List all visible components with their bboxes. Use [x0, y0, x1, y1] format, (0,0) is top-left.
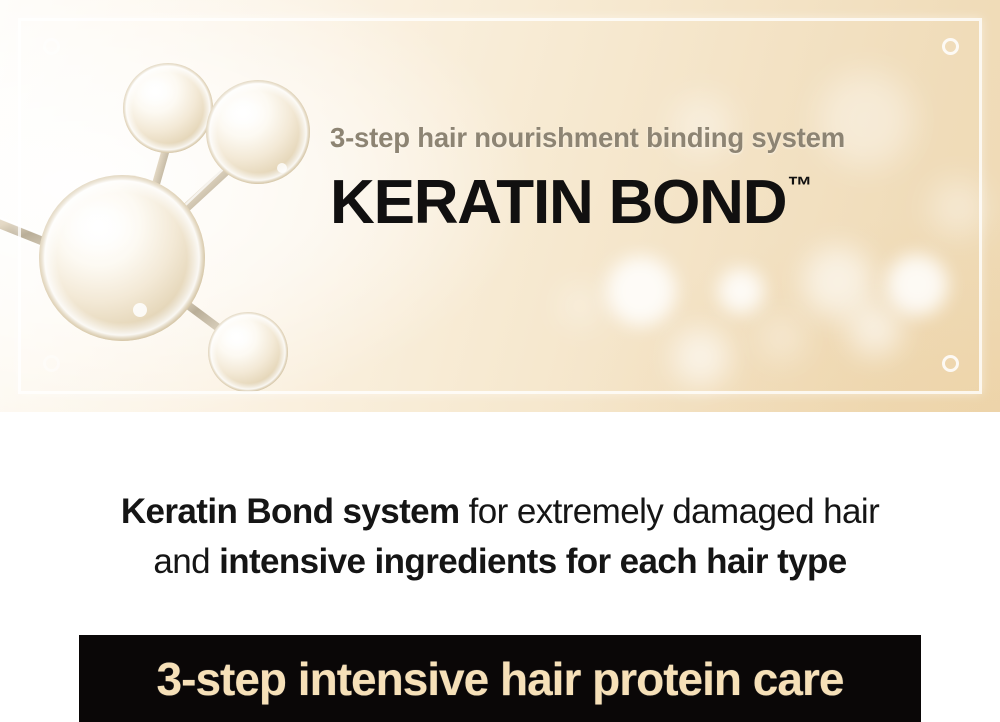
description-line-1-bold: Keratin Bond system [121, 492, 460, 531]
bokeh-circle [886, 254, 948, 316]
product-detail-page: 3-step hair nourishment binding system K… [0, 0, 1000, 722]
description-line-1: Keratin Bond system for extremely damage… [0, 487, 1000, 537]
hero-text-block: 3-step hair nourishment binding system K… [330, 124, 960, 234]
bokeh-circle [718, 268, 764, 314]
corner-ring-icon [942, 38, 959, 55]
hero-title: KERATIN BOND [330, 172, 786, 234]
description-block: Keratin Bond system for extremely damage… [0, 487, 1000, 587]
hero-subtitle: 3-step hair nourishment binding system [330, 124, 960, 152]
description-line-2: and intensive ingredients for each hair … [0, 537, 1000, 587]
bokeh-circle [606, 256, 676, 326]
corner-ring-icon [942, 355, 959, 372]
bokeh-circle [560, 286, 600, 326]
highlight-banner-text: 3-step intensive hair protein care [79, 635, 921, 722]
corner-ring-icon [43, 38, 60, 55]
description-line-1-regular: for extremely damaged hair [460, 492, 880, 531]
bokeh-circle [672, 328, 730, 386]
description-line-2-bold: intensive ingredients for each hair type [219, 542, 847, 581]
bokeh-circle [760, 316, 804, 360]
bokeh-circle [848, 302, 902, 356]
highlight-banner: 3-step intensive hair protein care [79, 635, 921, 722]
hero-banner: 3-step hair nourishment binding system K… [0, 0, 1000, 412]
molecule-icon [0, 10, 360, 410]
trademark-symbol: ™ [787, 174, 812, 199]
bokeh-circle [802, 246, 874, 318]
description-line-2-regular: and [153, 542, 219, 581]
hero-title-row: KERATIN BOND ™ [330, 172, 960, 234]
corner-ring-icon [43, 355, 60, 372]
